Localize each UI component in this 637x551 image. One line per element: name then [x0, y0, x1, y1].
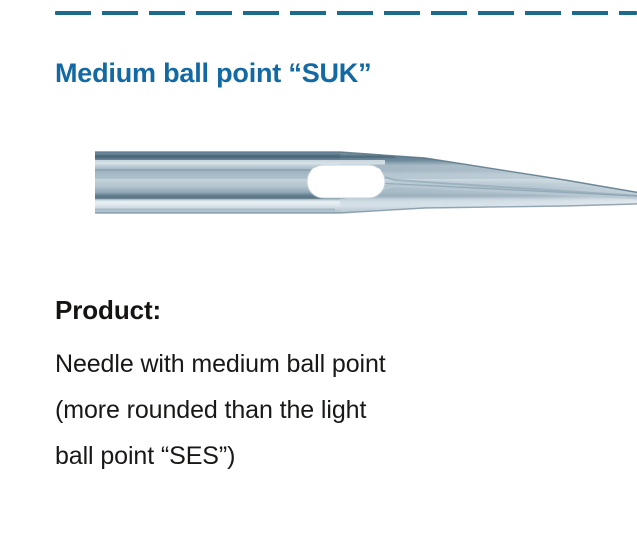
- needle-eye: [307, 165, 385, 198]
- product-description: Needle with medium ball point (more roun…: [55, 341, 595, 479]
- product-description-line-1: Needle with medium ball point: [55, 341, 595, 387]
- product-description-line-2: (more rounded than the light: [55, 387, 595, 433]
- product-label: Product:: [55, 295, 161, 325]
- page-title: Medium ball point “SUK”: [55, 57, 371, 89]
- dashed-divider: [55, 11, 637, 16]
- needle-figure: [95, 136, 637, 231]
- sewing-needle-illustration: [95, 136, 637, 231]
- dashed-divider-line: [55, 11, 637, 15]
- product-description-line-3: ball point “SES”): [55, 433, 595, 479]
